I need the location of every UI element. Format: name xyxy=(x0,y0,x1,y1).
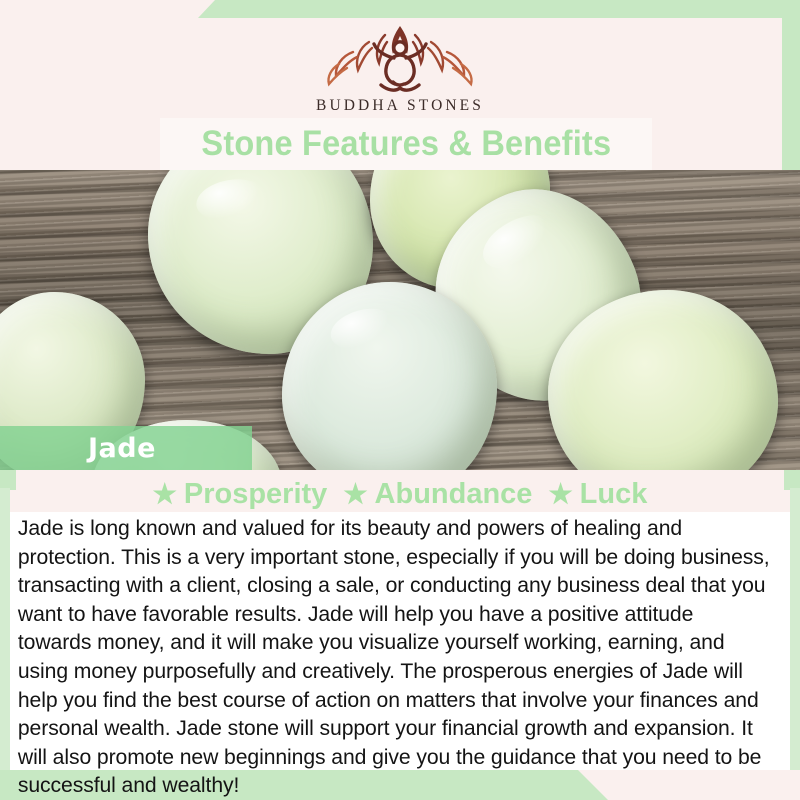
keyword-prosperity: ★ Prosperity xyxy=(153,478,328,511)
decor-right-text-edge xyxy=(790,488,800,770)
lotus-meditation-icon xyxy=(325,22,475,94)
description-text: Jade is long known and valued for its be… xyxy=(10,512,778,800)
keyword-luck: ★ Luck xyxy=(548,478,647,511)
keyword-label: Abundance xyxy=(375,478,533,511)
star-icon: ★ xyxy=(343,481,367,508)
keyword-abundance: ★ Abundance xyxy=(343,478,532,511)
description-panel: Jade is long known and valued for its be… xyxy=(10,512,790,770)
page-title: Stone Features & Benefits xyxy=(201,124,611,164)
stone-info-card: BUDDHA STONES Stone Features & Benefits … xyxy=(0,0,800,800)
keyword-row: ★ Prosperity ★ Abundance ★ Luck xyxy=(0,476,800,512)
title-banner: Stone Features & Benefits xyxy=(160,118,652,170)
decor-top-band xyxy=(0,0,800,18)
star-icon: ★ xyxy=(153,481,177,508)
stone-name-label: Jade xyxy=(88,433,156,464)
stone-photo xyxy=(0,170,800,470)
keyword-label: Luck xyxy=(580,478,648,511)
keyword-label: Prosperity xyxy=(184,478,327,511)
star-icon: ★ xyxy=(548,481,572,508)
stone-name-bar: Jade xyxy=(0,426,252,470)
brand-name: BUDDHA STONES xyxy=(316,97,484,115)
decor-left-text-edge xyxy=(0,488,10,770)
brand-header: BUDDHA STONES xyxy=(0,18,800,118)
